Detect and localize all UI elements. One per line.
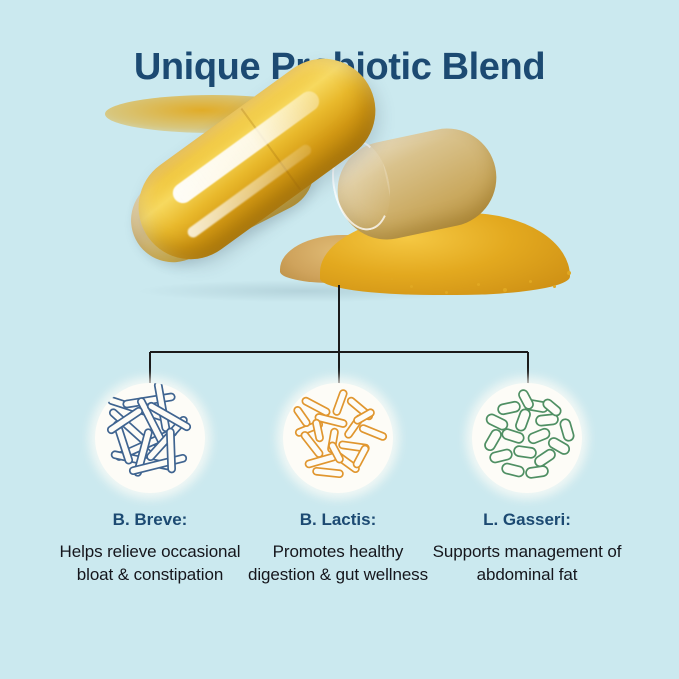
- strain-column-b-lactis: B. Lactis: Promotes healthy digestion & …: [238, 383, 438, 586]
- strain-icon-circle: [95, 383, 205, 493]
- probiotic-blend-infographic: Unique Probiotic Blend: [0, 0, 679, 679]
- bracket-connector: [0, 285, 679, 395]
- powder-speck: [567, 271, 571, 275]
- strain-icon-circle: [472, 383, 582, 493]
- strain-name: B. Lactis:: [238, 509, 438, 531]
- rod-bacteria-icon: [95, 383, 205, 493]
- front-capsule-highlight-secondary: [186, 143, 314, 240]
- powder-speck: [391, 278, 393, 280]
- strain-column-b-breve: B. Breve: Helps relieve occasional bloat…: [50, 383, 250, 586]
- powder-speck: [529, 280, 532, 283]
- strain-description: Helps relieve occasional bloat & constip…: [50, 540, 250, 586]
- strain-description: Promotes healthy digestion & gut wellnes…: [238, 540, 438, 586]
- rod-bacteria-icon: [283, 383, 393, 493]
- strain-column-l-gasseri: L. Gasseri: Supports management of abdom…: [427, 383, 627, 586]
- strain-name: L. Gasseri:: [427, 509, 627, 531]
- strain-name: B. Breve:: [50, 509, 250, 531]
- strain-icon-circle: [283, 383, 393, 493]
- capsule-bacteria-icon: [472, 383, 582, 493]
- strain-description: Supports management of abdominal fat: [427, 540, 627, 586]
